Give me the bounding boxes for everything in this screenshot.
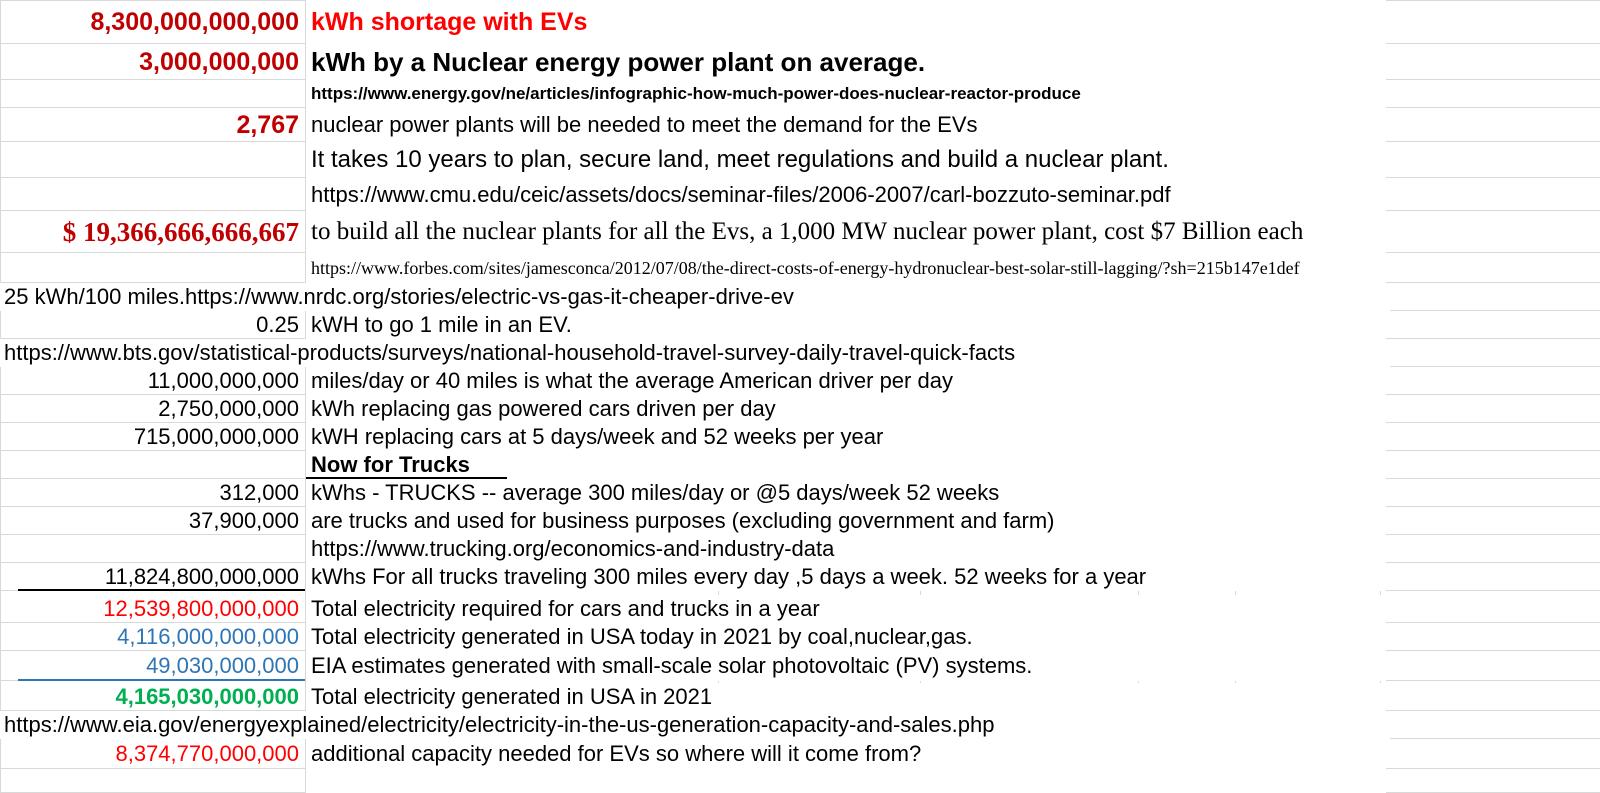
- cell-label-column-b[interactable]: kWhs For all trucks traveling 300 miles …: [306, 563, 1146, 591]
- cell-overflow-background: [306, 769, 1386, 793]
- cell-value-column-a[interactable]: 49,030,000,000: [0, 651, 305, 681]
- cell-value-column-a[interactable]: [0, 142, 305, 178]
- cell-value-column-a[interactable]: 8,374,770,000,000: [0, 739, 305, 769]
- cell-value-column-a[interactable]: $ 19,366,666,666,667: [0, 211, 305, 253]
- spreadsheet-row[interactable]: https://www.energy.gov/ne/articles/infog…: [0, 80, 1600, 108]
- spreadsheet-row[interactable]: 11,000,000,000miles/day or 40 miles is w…: [0, 367, 1600, 395]
- spreadsheet-row[interactable]: 49,030,000,000EIA estimates generated wi…: [0, 651, 1600, 681]
- cell-value-column-a[interactable]: 8,300,000,000,000: [0, 0, 305, 44]
- cell-label-column-b[interactable]: https://www.cmu.edu/ceic/assets/docs/sem…: [306, 178, 1171, 211]
- spreadsheet-row[interactable]: 37,900,000are trucks and used for busine…: [0, 507, 1600, 535]
- spreadsheet-row[interactable]: 8,300,000,000,000kWh shortage with EVs: [0, 0, 1600, 44]
- cell-label-column-b[interactable]: kWH to go 1 mile in an EV.: [306, 311, 572, 339]
- cell-value-column-a[interactable]: 2,767: [0, 108, 305, 142]
- cell-bottom-border: [18, 589, 305, 591]
- cell-label-column-b[interactable]: https://www.forbes.com/sites/jamesconca/…: [306, 253, 1300, 283]
- spreadsheet-row[interactable]: 12,539,800,000,000Total electricity requ…: [0, 595, 1600, 623]
- cell-label-column-b[interactable]: additional capacity needed for EVs so wh…: [306, 739, 921, 769]
- spreadsheet-row[interactable]: 8,374,770,000,000additional capacity nee…: [0, 739, 1600, 769]
- cell-value-column-a[interactable]: [0, 178, 305, 211]
- spreadsheet-row[interactable]: 2,750,000,000kWh replacing gas powered c…: [0, 395, 1600, 423]
- cell-label-column-b[interactable]: are trucks and used for business purpose…: [306, 507, 1055, 535]
- spreadsheet-row[interactable]: Now for Trucks: [0, 451, 1600, 479]
- spreadsheet-canvas[interactable]: 8,300,000,000,000kWh shortage with EVs3,…: [0, 0, 1600, 793]
- cell-label-column-b[interactable]: kWh replacing gas powered cars driven pe…: [306, 395, 776, 423]
- cell-label-column-b[interactable]: [306, 769, 311, 793]
- cell-value-column-a[interactable]: 715,000,000,000: [0, 423, 305, 451]
- spreadsheet-row[interactable]: 3,000,000,000kWh by a Nuclear energy pow…: [0, 44, 1600, 80]
- cell-value-column-a[interactable]: [0, 451, 305, 479]
- cell-value-column-a[interactable]: 312,000: [0, 479, 305, 507]
- cell-label-column-b[interactable]: https://www.energy.gov/ne/articles/infog…: [306, 80, 1081, 108]
- cell-bottom-border: [18, 679, 305, 681]
- cell-label-column-b[interactable]: https://www.trucking.org/economics-and-i…: [306, 535, 834, 563]
- cell-overflow-text[interactable]: https://www.eia.gov/energyexplained/elec…: [0, 711, 1600, 739]
- spreadsheet-row[interactable]: 2,767nuclear power plants will be needed…: [0, 108, 1600, 142]
- spreadsheet-row[interactable]: https://www.trucking.org/economics-and-i…: [0, 535, 1600, 563]
- spreadsheet-row[interactable]: https://www.forbes.com/sites/jamesconca/…: [0, 253, 1600, 283]
- cell-value-column-a[interactable]: 12,539,800,000,000: [0, 595, 305, 623]
- cell-label-column-b[interactable]: Total electricity generated in USA in 20…: [306, 683, 712, 711]
- cell-label-column-b[interactable]: to build all the nuclear plants for all …: [306, 211, 1303, 253]
- cell-value-column-a[interactable]: 4,116,000,000,000: [0, 623, 305, 651]
- spreadsheet-row[interactable]: 25 kWh/100 miles.https://www.nrdc.org/st…: [0, 283, 1600, 311]
- cell-overflow-text[interactable]: https://www.bts.gov/statistical-products…: [0, 339, 1600, 367]
- cell-value-column-a[interactable]: 4,165,030,000,000: [0, 683, 305, 711]
- spreadsheet-row[interactable]: 715,000,000,000kWH replacing cars at 5 d…: [0, 423, 1600, 451]
- spreadsheet-row[interactable]: https://www.cmu.edu/ceic/assets/docs/sem…: [0, 178, 1600, 211]
- cell-value-column-a[interactable]: 11,824,800,000,000: [0, 563, 305, 591]
- spreadsheet-row[interactable]: https://www.eia.gov/energyexplained/elec…: [0, 711, 1600, 739]
- cell-value-column-a[interactable]: 11,000,000,000: [0, 367, 305, 395]
- cell-label-column-b[interactable]: kWh by a Nuclear energy power plant on a…: [306, 44, 925, 80]
- cell-value-column-a[interactable]: 0.25: [0, 311, 305, 339]
- cell-label-column-b[interactable]: EIA estimates generated with small-scale…: [306, 651, 1032, 681]
- cell-label-column-b[interactable]: kWh shortage with EVs: [306, 0, 587, 44]
- cell-label-column-b[interactable]: miles/day or 40 miles is what the averag…: [306, 367, 953, 395]
- cell-value-column-a[interactable]: 3,000,000,000: [0, 44, 305, 80]
- cell-label-column-b[interactable]: It takes 10 years to plan, secure land, …: [306, 142, 1169, 178]
- cell-value-column-a[interactable]: 2,750,000,000: [0, 395, 305, 423]
- cell-value-column-a[interactable]: [0, 80, 305, 108]
- cell-value-column-a[interactable]: [0, 253, 305, 283]
- cell-value-column-a[interactable]: [0, 769, 305, 793]
- spreadsheet-row[interactable]: It takes 10 years to plan, secure land, …: [0, 142, 1600, 178]
- spreadsheet-row[interactable]: [0, 769, 1600, 793]
- spreadsheet-row[interactable]: $ 19,366,666,666,667to build all the nuc…: [0, 211, 1600, 253]
- cell-value-column-a[interactable]: [0, 535, 305, 563]
- cell-label-column-b[interactable]: kWH replacing cars at 5 days/week and 52…: [306, 423, 883, 451]
- spreadsheet-row[interactable]: https://www.bts.gov/statistical-products…: [0, 339, 1600, 367]
- spreadsheet-row[interactable]: 4,165,030,000,000Total electricity gener…: [0, 683, 1600, 711]
- cell-label-column-b[interactable]: Now for Trucks: [306, 451, 470, 479]
- cell-label-column-b[interactable]: Total electricity generated in USA today…: [306, 623, 973, 651]
- spreadsheet-row[interactable]: 312,000kWhs - TRUCKS -- average 300 mile…: [0, 479, 1600, 507]
- cell-value-column-a[interactable]: 37,900,000: [0, 507, 305, 535]
- cell-overflow-text[interactable]: 25 kWh/100 miles.https://www.nrdc.org/st…: [0, 283, 1600, 311]
- cell-label-column-b[interactable]: kWhs - TRUCKS -- average 300 miles/day o…: [306, 479, 999, 507]
- spreadsheet-row[interactable]: 11,824,800,000,000kWhs For all trucks tr…: [0, 563, 1600, 591]
- spreadsheet-row[interactable]: 0.25kWH to go 1 mile in an EV.: [0, 311, 1600, 339]
- cell-label-column-b[interactable]: nuclear power plants will be needed to m…: [306, 108, 978, 142]
- spreadsheet-row[interactable]: 4,116,000,000,000Total electricity gener…: [0, 623, 1600, 651]
- cell-bottom-border: [306, 477, 507, 479]
- cell-label-column-b[interactable]: Total electricity required for cars and …: [306, 595, 820, 623]
